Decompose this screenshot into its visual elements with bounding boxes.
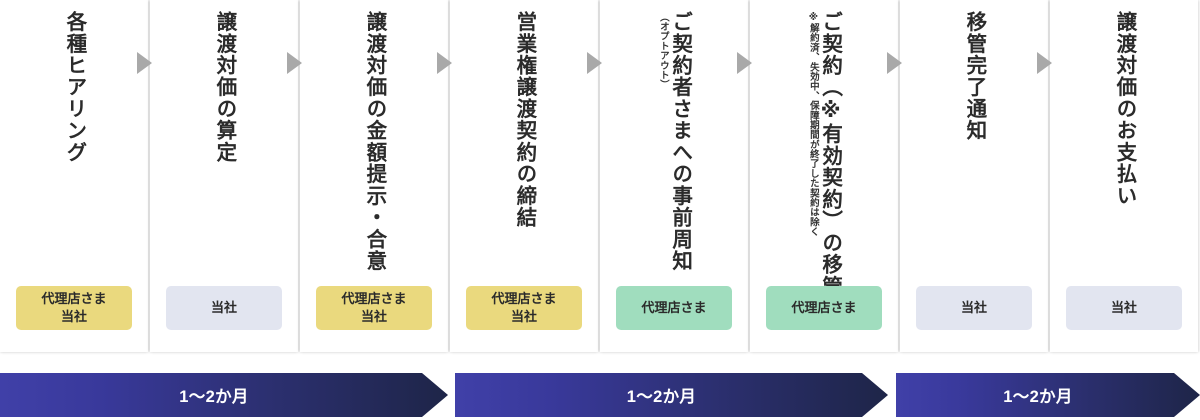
step-title-8: 譲渡対価のお支払い (1112, 11, 1136, 207)
badge-line: 当社 (211, 299, 237, 317)
step-title-1: 各種ヒアリング (62, 11, 86, 163)
step-badge-4: 代理店さま 当社 (466, 286, 582, 330)
badge-line: 当社 (961, 299, 987, 317)
badge-line: 当社 (1111, 299, 1137, 317)
step-badge-6: 代理店さま (766, 286, 882, 330)
step-card-1[interactable]: 各種ヒアリング 代理店さま 当社 (0, 0, 148, 352)
timeline-arrow-2-label: 1〜2か月 (627, 383, 697, 407)
step-card-3[interactable]: 譲渡対価の金額提示・合意 代理店さま 当社 (300, 0, 448, 352)
step-title-2: 譲渡対価の算定 (212, 11, 236, 163)
step-note-5: （オプトアウト） (657, 12, 667, 90)
step-connector-arrow-icon (1037, 52, 1052, 74)
step-title-7: 移管完了通知 (962, 11, 986, 141)
step-badge-1: 代理店さま 当社 (16, 286, 132, 330)
step-title-4: 営業権譲渡契約の締結 (512, 11, 536, 228)
step-title-wrap-6: ご契約（※有効契約）の移管 ※解約済、失効中、保障期間が終了した契約は除く (750, 11, 898, 273)
step-badge-5: 代理店さま (616, 286, 732, 330)
step-card-4[interactable]: 営業権譲渡契約の締結 代理店さま 当社 (450, 0, 598, 352)
timeline-arrow-3-label: 1〜2か月 (1003, 383, 1073, 407)
timeline-arrow-2: 1〜2か月 (455, 373, 888, 417)
step-connector-arrow-icon (887, 52, 902, 74)
step-connector-arrow-icon (587, 52, 602, 74)
badge-line: 当社 (511, 308, 537, 326)
step-title-wrap-3: 譲渡対価の金額提示・合意 (300, 11, 448, 273)
step-title-5: ご契約者さまへの事前周知 (668, 11, 692, 272)
timeline-arrow-1: 1〜2か月 (0, 373, 448, 417)
step-connector-arrow-icon (287, 52, 302, 74)
step-badge-2: 当社 (166, 286, 282, 330)
step-card-7[interactable]: 移管完了通知 当社 (900, 0, 1048, 352)
timeline-bar: 1〜2か月 1〜2か月 1〜2か月 (0, 373, 1200, 417)
step-connector-arrow-icon (737, 52, 752, 74)
timeline-arrow-3: 1〜2か月 (896, 373, 1200, 417)
step-title-wrap-1: 各種ヒアリング (0, 11, 148, 273)
badge-line: 当社 (61, 308, 87, 326)
step-title-wrap-5: ご契約者さまへの事前周知 （オプトアウト） (600, 11, 748, 273)
step-badge-8: 当社 (1066, 286, 1182, 330)
step-title-wrap-4: 営業権譲渡契約の締結 (450, 11, 598, 273)
badge-line: 当社 (361, 308, 387, 326)
step-badge-3: 代理店さま 当社 (316, 286, 432, 330)
badge-line: 代理店さま (341, 290, 406, 308)
badge-line: 代理店さま (791, 299, 856, 317)
step-cards-row: 各種ヒアリング 代理店さま 当社 譲渡対価の算定 当社 譲渡対価の金額提示・合意 (0, 0, 1200, 358)
step-badge-7: 当社 (916, 286, 1032, 330)
step-card-2[interactable]: 譲渡対価の算定 当社 (150, 0, 298, 352)
step-connector-arrow-icon (437, 52, 452, 74)
step-title-6: ご契約（※有効契約）の移管 (818, 11, 842, 273)
step-card-5[interactable]: ご契約者さまへの事前周知 （オプトアウト） 代理店さま (600, 0, 748, 352)
process-flow-diagram: 各種ヒアリング 代理店さま 当社 譲渡対価の算定 当社 譲渡対価の金額提示・合意 (0, 0, 1200, 420)
step-connector-arrow-icon (137, 52, 152, 74)
step-card-6[interactable]: ご契約（※有効契約）の移管 ※解約済、失効中、保障期間が終了した契約は除く 代理… (750, 0, 898, 352)
step-note-6: ※解約済、失効中、保障期間が終了した契約は除く (807, 12, 817, 236)
step-title-3: 譲渡対価の金額提示・合意 (362, 11, 386, 272)
badge-line: 代理店さま (641, 299, 706, 317)
timeline-arrow-1-label: 1〜2か月 (179, 383, 249, 407)
badge-line: 代理店さま (41, 290, 106, 308)
step-card-8[interactable]: 譲渡対価のお支払い 当社 (1050, 0, 1198, 352)
badge-line: 代理店さま (491, 290, 556, 308)
step-title-wrap-2: 譲渡対価の算定 (150, 11, 298, 273)
step-title-wrap-7: 移管完了通知 (900, 11, 1048, 273)
step-title-wrap-8: 譲渡対価のお支払い (1050, 11, 1198, 273)
